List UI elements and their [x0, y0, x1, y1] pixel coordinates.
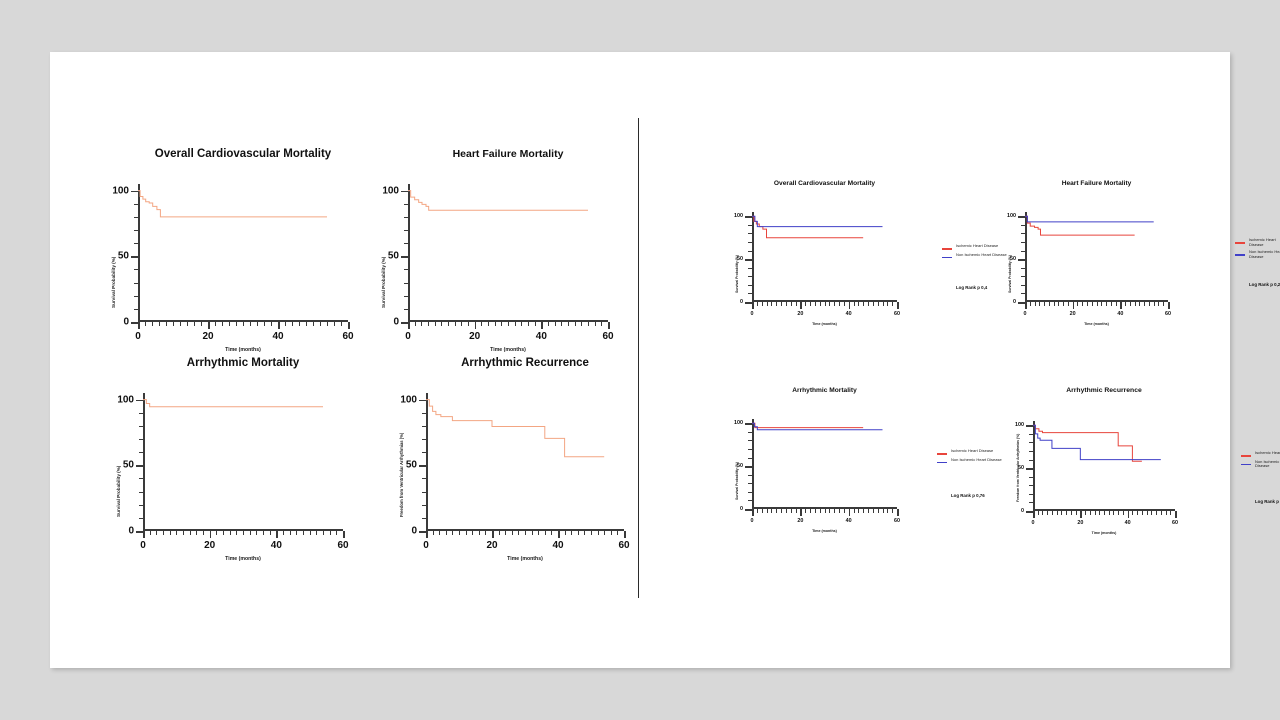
x-tick — [1170, 511, 1171, 515]
x-tick — [532, 531, 533, 535]
y-tick-label: 100 — [703, 213, 743, 219]
x-tick — [446, 531, 447, 535]
x-tick — [854, 302, 855, 306]
x-tick — [1039, 302, 1040, 306]
x-tick — [180, 322, 181, 326]
x-tick — [858, 302, 859, 306]
x-tick — [844, 302, 845, 306]
x-tick — [786, 302, 787, 306]
x-tick — [591, 531, 592, 535]
x-tick — [468, 322, 469, 326]
legend-label: Non Ischemic Heart Disease — [1255, 460, 1280, 469]
x-tick — [825, 302, 826, 306]
survival-curves — [1033, 421, 1175, 511]
x-tick — [800, 509, 802, 516]
chart-title: Overall Cardiovascular Mortality — [722, 180, 927, 187]
slide-page: Overall Cardiovascular Mortality05010002… — [50, 52, 1230, 668]
chart-left-arrhythmic-recurrence: Arrhythmic Recurrence0501000204060Time (… — [368, 357, 658, 567]
chart-title: Heart Failure Mortality — [378, 148, 638, 160]
x-tick — [159, 322, 160, 326]
x-tick — [1054, 302, 1055, 306]
chart-left-heart-failure-mortality: Heart Failure Mortality0501000204060Time… — [350, 148, 640, 358]
x-tick — [508, 322, 509, 326]
x-tick — [1058, 302, 1059, 306]
x-tick — [1066, 511, 1067, 515]
x-tick — [538, 531, 539, 535]
x-tick-label: 20 — [486, 540, 497, 551]
x-tick — [408, 322, 410, 329]
y-axis-title: Survival Probability (%) — [116, 466, 121, 517]
x-tick — [878, 302, 879, 306]
x-tick — [541, 322, 543, 329]
x-tick — [1135, 302, 1136, 306]
curve-non-ischemic-heart-disease — [1033, 425, 1161, 459]
y-tick — [419, 531, 426, 533]
x-tick — [805, 302, 806, 306]
x-tick — [834, 302, 835, 306]
y-tick — [1018, 216, 1025, 218]
x-tick — [263, 531, 264, 535]
chart-title: Arrhythmic Mortality — [722, 387, 927, 394]
y-tick-label: 0 — [984, 508, 1024, 514]
x-tick — [183, 531, 184, 535]
x-tick — [421, 322, 422, 326]
x-tick-label: 0 — [423, 540, 429, 551]
x-tick — [551, 531, 552, 535]
x-tick — [873, 302, 874, 306]
x-tick — [878, 509, 879, 513]
x-tick-label: 60 — [1172, 520, 1178, 526]
x-tick — [138, 322, 140, 329]
x-tick — [518, 531, 519, 535]
chart-title: Overall Cardiovascular Mortality — [108, 148, 378, 160]
y-axis-title: Survival Probability (%) — [735, 462, 739, 500]
x-tick — [1163, 302, 1164, 306]
x-tick — [327, 322, 328, 326]
x-tick — [216, 531, 217, 535]
x-tick — [1044, 302, 1045, 306]
x-axis-title: Time (months) — [490, 347, 526, 353]
y-tick — [401, 256, 408, 258]
x-tick — [892, 302, 893, 306]
x-tick — [601, 322, 602, 326]
x-tick — [243, 531, 244, 535]
x-tick — [604, 531, 605, 535]
x-tick — [485, 531, 486, 535]
x-tick — [815, 302, 816, 306]
x-axis-title: Time (months) — [812, 322, 837, 326]
chart-right-arrhythmic-mortality: Arrhythmic Mortality0501000204060Time (m… — [690, 387, 925, 532]
legend-color-swatch — [937, 462, 947, 464]
legend-color-swatch — [1235, 242, 1245, 244]
x-tick-label: 40 — [552, 540, 563, 551]
x-tick — [791, 302, 792, 306]
x-tick-label: 0 — [135, 331, 141, 342]
x-tick — [466, 531, 467, 535]
x-tick — [1156, 511, 1157, 515]
chart-title: Arrhythmic Recurrence — [396, 357, 654, 369]
y-tick — [1026, 425, 1033, 427]
y-tick — [131, 191, 138, 193]
y-tick — [745, 466, 752, 468]
curve-non-ischemic-heart-disease — [752, 423, 883, 429]
y-axis-title: Survival Probability (%) — [111, 257, 116, 308]
x-tick — [488, 322, 489, 326]
x-tick — [1092, 302, 1093, 306]
x-tick — [771, 509, 772, 513]
x-tick — [892, 509, 893, 513]
x-tick — [805, 509, 806, 513]
y-tick — [1026, 511, 1033, 513]
x-tick — [1052, 511, 1053, 515]
x-tick — [330, 531, 331, 535]
y-tick — [419, 400, 426, 402]
y-tick-label: 100 — [89, 185, 129, 196]
x-tick-label: 40 — [1117, 311, 1123, 317]
x-axis-title: Time (months) — [225, 556, 261, 562]
survival-curves — [752, 212, 897, 302]
x-tick — [548, 322, 549, 326]
x-tick — [512, 531, 513, 535]
x-tick — [163, 531, 164, 535]
x-tick — [201, 322, 202, 326]
x-tick-label: 20 — [202, 331, 213, 342]
y-tick — [401, 322, 408, 324]
x-tick — [426, 531, 428, 538]
log-rank-annotation: Log Rank p 0,2 — [1255, 499, 1280, 504]
y-axis-title: Survival Probability (%) — [381, 257, 386, 308]
legend-label: Ischemic Heart Disease — [1255, 451, 1280, 456]
x-tick — [810, 509, 811, 513]
chart-title: Arrhythmic Recurrence — [1003, 387, 1205, 394]
y-tick-label: 100 — [94, 394, 134, 405]
x-tick-label: 0 — [405, 331, 411, 342]
x-tick — [796, 302, 797, 306]
x-tick — [223, 531, 224, 535]
x-tick — [776, 302, 777, 306]
x-tick-label: 40 — [271, 540, 282, 551]
x-tick — [143, 531, 145, 538]
x-tick — [156, 531, 157, 535]
x-tick — [588, 322, 589, 326]
y-tick — [745, 423, 752, 425]
x-tick-label: 20 — [1077, 520, 1083, 526]
legend-label: Ischemic Heart Disease — [1249, 238, 1280, 247]
x-tick — [863, 302, 864, 306]
x-tick — [292, 322, 293, 326]
chart-right-overall-cv-mortality: Overall Cardiovascular Mortality05010002… — [690, 180, 920, 325]
x-tick-label: 60 — [618, 540, 629, 551]
x-tick — [584, 531, 585, 535]
y-tick-label: 0 — [703, 299, 743, 305]
x-tick — [187, 322, 188, 326]
y-tick-label: 100 — [976, 213, 1016, 219]
y-tick-label: 0 — [89, 317, 129, 328]
x-tick — [1149, 302, 1150, 306]
x-tick — [1132, 511, 1133, 515]
x-tick — [844, 509, 845, 513]
x-tick-label: 60 — [894, 518, 900, 524]
x-tick — [825, 509, 826, 513]
x-tick — [1118, 511, 1119, 515]
x-tick — [781, 509, 782, 513]
y-tick — [745, 259, 752, 261]
x-tick — [1123, 511, 1124, 515]
x-tick — [479, 531, 480, 535]
x-tick — [762, 509, 763, 513]
x-tick — [1076, 511, 1077, 515]
x-tick — [873, 509, 874, 513]
x-tick — [1063, 302, 1064, 306]
x-tick — [501, 322, 502, 326]
x-tick — [617, 531, 618, 535]
x-tick — [757, 509, 758, 513]
curve-non-ischemic-heart-disease — [1025, 216, 1154, 222]
x-tick-label: 40 — [1125, 520, 1131, 526]
x-tick — [595, 322, 596, 326]
survival-curves — [1025, 212, 1168, 302]
x-tick — [150, 531, 151, 535]
y-tick — [745, 509, 752, 511]
x-tick — [250, 531, 251, 535]
x-tick — [173, 322, 174, 326]
curve-overall-cohort — [138, 191, 327, 217]
x-axis-title: Time (months) — [507, 556, 543, 562]
x-tick — [341, 322, 342, 326]
y-tick-label: 0 — [377, 526, 417, 537]
x-tick — [472, 531, 473, 535]
x-tick — [578, 531, 579, 535]
chart-left-overall-cv-mortality: Overall Cardiovascular Mortality05010002… — [90, 148, 380, 358]
x-tick — [310, 531, 311, 535]
x-tick-label: 20 — [1070, 311, 1076, 317]
x-tick — [762, 302, 763, 306]
x-axis-title: Time (months) — [1092, 531, 1117, 535]
plot-area: 0501000204060Time (months)Freedom from V… — [426, 393, 624, 531]
x-tick-label: 40 — [846, 311, 852, 317]
plot-area: 0501000204060Time (months)Survival Proba… — [752, 419, 897, 509]
x-tick — [1025, 302, 1027, 309]
x-tick — [1158, 302, 1159, 306]
x-tick — [257, 322, 258, 326]
y-tick — [136, 400, 143, 402]
survival-curves — [752, 419, 897, 509]
x-tick — [598, 531, 599, 535]
chart-title: Arrhythmic Mortality — [113, 357, 373, 369]
x-tick — [1090, 511, 1091, 515]
x-tick — [1057, 511, 1058, 515]
x-tick — [581, 322, 582, 326]
x-tick — [336, 531, 337, 535]
x-tick — [883, 509, 884, 513]
x-tick — [1144, 302, 1145, 306]
x-tick — [897, 509, 899, 516]
x-tick — [1130, 302, 1131, 306]
x-tick — [565, 531, 566, 535]
x-tick — [1161, 511, 1162, 515]
y-tick-label: 50 — [359, 251, 399, 262]
curve-overall-cohort — [408, 191, 588, 211]
x-tick — [1106, 302, 1107, 306]
y-tick — [131, 256, 138, 258]
x-tick — [1073, 302, 1075, 309]
x-tick — [1101, 302, 1102, 306]
survival-curves — [408, 184, 608, 322]
x-tick — [568, 322, 569, 326]
chart-left-arrhythmic-mortality: Arrhythmic Mortality0501000204060Time (m… — [85, 357, 375, 567]
x-tick — [1128, 511, 1130, 518]
y-tick — [1026, 468, 1033, 470]
x-tick — [1109, 511, 1110, 515]
legend-item: Non Ischemic Heart Disease — [1235, 250, 1280, 259]
x-tick — [829, 302, 830, 306]
chart-legend: Ischemic Heart DiseaseNon Ischemic Heart… — [1241, 451, 1280, 472]
x-tick — [820, 509, 821, 513]
x-tick — [608, 322, 610, 329]
x-tick — [439, 531, 440, 535]
x-tick-label: 60 — [1165, 311, 1171, 317]
x-tick — [1049, 302, 1050, 306]
curve-ischemic-heart-disease — [752, 423, 863, 427]
legend-item: Ischemic Heart Disease — [1241, 451, 1280, 457]
survival-curves — [426, 393, 624, 531]
legend-color-swatch — [1241, 464, 1251, 466]
x-tick — [575, 322, 576, 326]
plot-area: 0501000204060Time (months)Survival Proba… — [752, 212, 897, 302]
x-tick — [1113, 511, 1114, 515]
x-tick-label: 60 — [894, 311, 900, 317]
x-tick — [1047, 511, 1048, 515]
x-tick — [334, 322, 335, 326]
x-tick — [791, 509, 792, 513]
x-tick — [435, 322, 436, 326]
x-tick — [521, 322, 522, 326]
x-tick — [271, 322, 272, 326]
y-tick — [1018, 302, 1025, 304]
survival-curves — [138, 184, 348, 322]
x-axis-title: Time (months) — [225, 347, 261, 353]
x-tick-label: 40 — [536, 331, 547, 342]
x-tick — [849, 302, 851, 309]
x-tick — [316, 531, 317, 535]
x-tick — [752, 302, 754, 309]
x-tick — [815, 509, 816, 513]
curve-ischemic-heart-disease — [1033, 425, 1142, 461]
plot-area: 0501000204060Time (months)Survival Proba… — [408, 184, 608, 322]
x-tick — [1095, 511, 1096, 515]
y-tick-label: 100 — [377, 394, 417, 405]
y-tick — [1018, 259, 1025, 261]
x-tick-label: 40 — [272, 331, 283, 342]
x-tick — [433, 531, 434, 535]
x-tick — [1061, 511, 1062, 515]
x-tick — [757, 302, 758, 306]
x-tick — [535, 322, 536, 326]
curve-ischemic-heart-disease — [1025, 216, 1135, 235]
x-axis-title: Time (months) — [812, 529, 837, 533]
x-tick — [415, 322, 416, 326]
x-tick-label: 0 — [1032, 520, 1035, 526]
x-tick — [611, 531, 612, 535]
x-tick — [571, 531, 572, 535]
x-tick-label: 60 — [337, 540, 348, 551]
x-tick — [887, 509, 888, 513]
x-tick — [883, 302, 884, 306]
x-tick — [887, 302, 888, 306]
x-tick — [1125, 302, 1126, 306]
y-tick-label: 0 — [359, 317, 399, 328]
x-tick — [752, 509, 754, 516]
x-tick — [194, 322, 195, 326]
x-tick — [452, 531, 453, 535]
x-tick — [555, 322, 556, 326]
y-tick — [136, 531, 143, 533]
survival-curves — [143, 393, 343, 531]
x-tick — [525, 531, 526, 535]
x-tick — [481, 322, 482, 326]
x-tick — [276, 531, 278, 538]
x-tick — [495, 322, 496, 326]
x-tick — [145, 322, 146, 326]
x-tick — [1142, 511, 1143, 515]
curve-non-ischemic-heart-disease — [752, 216, 883, 226]
x-tick — [1030, 302, 1031, 306]
x-tick — [441, 322, 442, 326]
x-tick — [236, 322, 237, 326]
x-tick — [854, 509, 855, 513]
x-tick — [786, 509, 787, 513]
y-tick — [745, 302, 752, 304]
y-tick — [745, 216, 752, 218]
x-tick-label: 20 — [204, 540, 215, 551]
plot-area: 0501000204060Time (months)Survival Proba… — [1025, 212, 1168, 302]
x-tick — [270, 531, 271, 535]
x-tick — [1120, 302, 1122, 309]
y-tick-label: 100 — [984, 422, 1024, 428]
x-tick — [203, 531, 204, 535]
x-tick — [545, 531, 546, 535]
x-tick — [215, 322, 216, 326]
x-tick — [152, 322, 153, 326]
x-tick — [868, 509, 869, 513]
x-tick — [1154, 302, 1155, 306]
x-tick — [499, 531, 500, 535]
x-tick-label: 0 — [140, 540, 146, 551]
x-tick — [897, 302, 899, 309]
y-tick — [401, 191, 408, 193]
x-tick — [428, 322, 429, 326]
x-tick — [455, 322, 456, 326]
x-tick — [299, 322, 300, 326]
x-tick — [1137, 511, 1138, 515]
x-tick — [1147, 511, 1148, 515]
curve-overall-cohort — [426, 400, 604, 457]
x-tick — [800, 302, 802, 309]
x-tick — [776, 509, 777, 513]
x-tick — [781, 302, 782, 306]
y-tick-label: 50 — [89, 251, 129, 262]
x-tick — [528, 322, 529, 326]
x-tick — [230, 531, 231, 535]
x-tick — [868, 302, 869, 306]
y-tick-label: 50 — [94, 460, 134, 471]
x-tick — [558, 531, 560, 538]
x-tick — [256, 531, 257, 535]
y-tick-label: 0 — [703, 506, 743, 512]
x-tick — [492, 531, 494, 538]
x-tick — [1099, 511, 1100, 515]
x-tick-label: 0 — [751, 311, 754, 317]
